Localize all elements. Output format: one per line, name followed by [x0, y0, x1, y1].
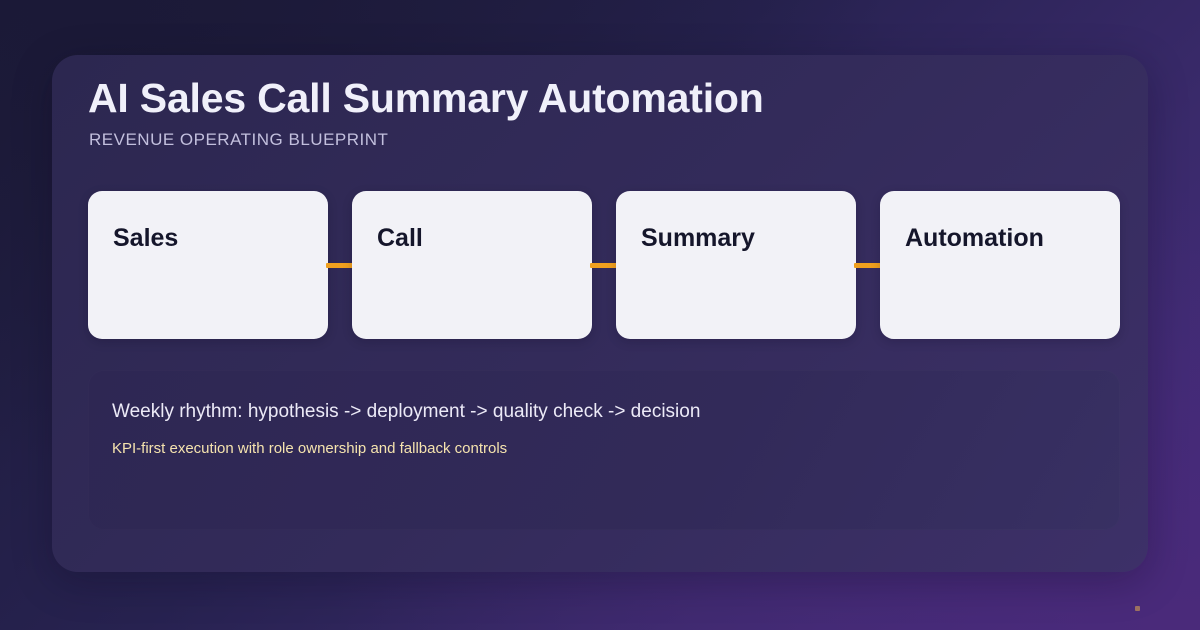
footer-primary-text: Weekly rhythm: hypothesis -> deployment … — [112, 399, 700, 425]
pipeline-card-label: Call — [377, 223, 423, 253]
pipeline-connector-1 — [328, 191, 352, 339]
page-title: AI Sales Call Summary Automation — [88, 74, 764, 122]
pipeline-connector-3 — [856, 191, 880, 339]
pipeline-card-call[interactable]: Call — [352, 191, 592, 339]
corner-dot-marker — [1135, 606, 1140, 611]
slide-canvas: AI Sales Call Summary Automation REVENUE… — [0, 0, 1200, 630]
pipeline-card-sales[interactable]: Sales — [88, 191, 328, 339]
pipeline-card-label: Summary — [641, 223, 755, 253]
panel-content: AI Sales Call Summary Automation REVENUE… — [88, 55, 1120, 572]
page-subtitle: REVENUE OPERATING BLUEPRINT — [89, 129, 388, 151]
pipeline-card-label: Automation — [905, 223, 1044, 253]
pipeline-card-summary[interactable]: Summary — [616, 191, 856, 339]
footer-note-panel: Weekly rhythm: hypothesis -> deployment … — [88, 370, 1120, 530]
pipeline-card-row: Sales Call Summary Automation — [88, 191, 1120, 339]
pipeline-card-automation[interactable]: Automation — [880, 191, 1120, 339]
main-panel: AI Sales Call Summary Automation REVENUE… — [52, 55, 1148, 572]
footer-secondary-text: KPI-first execution with role ownership … — [112, 439, 507, 459]
pipeline-connector-2 — [592, 191, 616, 339]
pipeline-card-label: Sales — [113, 223, 178, 253]
